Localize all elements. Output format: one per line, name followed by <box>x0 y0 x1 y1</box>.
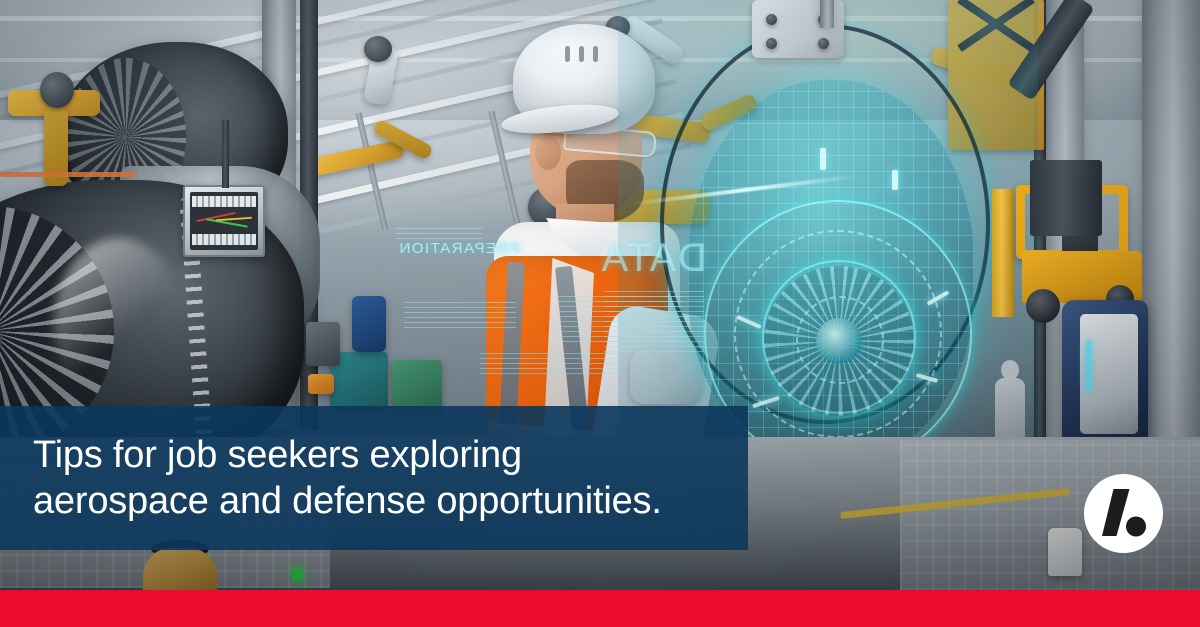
hoist-cable <box>820 0 834 28</box>
holographic-tick-6 <box>892 170 898 190</box>
page-title: Tips for job seekers exploring aerospace… <box>0 432 662 524</box>
distant-figure-body <box>995 378 1025 444</box>
headline-line-2: aerospace and defense opportunities. <box>33 478 662 524</box>
hud-label-data: DATA <box>600 236 707 281</box>
panel-conduit <box>222 120 229 188</box>
engine-specular-highlight <box>54 238 184 408</box>
holographic-ring-4-dashed <box>796 296 884 384</box>
robot-joint-1 <box>364 36 392 62</box>
banner-image: PREPARATION DATA <box>0 0 1200 627</box>
white-canister <box>1048 528 1082 576</box>
hoist-bolt-1 <box>766 14 777 25</box>
holographic-tick-5 <box>820 148 826 170</box>
robot-tool-head <box>40 72 74 108</box>
breaker-row-top <box>192 196 256 207</box>
hud-label-preparation: PREPARATION <box>398 240 520 257</box>
hud-datastream-1 <box>396 228 482 239</box>
hard-hat-vent-3 <box>593 46 598 62</box>
gold-cylinder-prop <box>143 548 217 596</box>
electrical-control-panel <box>183 185 265 257</box>
forklift-wheel-front <box>1026 289 1060 323</box>
status-led-green <box>292 568 303 581</box>
panel-wire-yellow <box>216 217 252 222</box>
storage-bin-grey <box>306 322 340 366</box>
orange-pipe-left <box>0 172 136 177</box>
hud-datastream-5 <box>480 352 620 374</box>
panel-interior <box>190 192 258 250</box>
crate-stack <box>1030 160 1102 236</box>
headline-banner: Tips for job seekers exploring aerospace… <box>0 406 748 550</box>
worker-ear <box>535 136 561 170</box>
hud-datastream-3 <box>604 290 704 352</box>
hard-hat-vent-1 <box>565 46 570 62</box>
headline-line-1: Tips for job seekers exploring <box>33 432 662 478</box>
circle-slash-dot-icon <box>1084 474 1163 553</box>
accent-bar-bottom <box>0 590 1200 627</box>
forklift-mast <box>992 189 1014 317</box>
machine-led-strip <box>1086 340 1091 392</box>
hard-hat-vent-2 <box>579 46 584 62</box>
tablet-device <box>308 374 334 394</box>
hoist-bolt-4 <box>818 38 829 49</box>
hoist-bolt-3 <box>766 38 777 49</box>
breaker-row-bottom <box>192 234 256 245</box>
distant-figure-head <box>1001 360 1019 380</box>
blue-barrel <box>352 296 386 352</box>
hud-datastream-4 <box>404 302 516 328</box>
brand-logo[interactable] <box>1084 474 1163 553</box>
